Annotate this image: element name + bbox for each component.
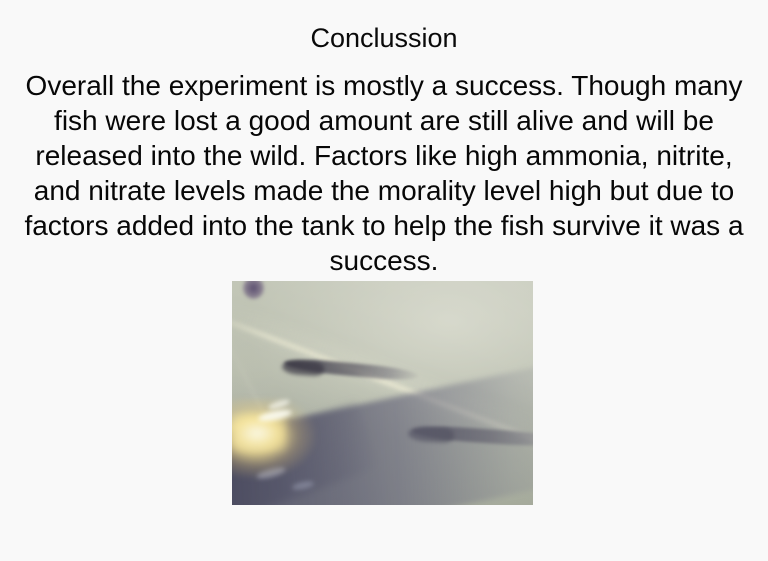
- slide: Conclussion Overall the experiment is mo…: [0, 0, 768, 561]
- page-title: Conclussion: [0, 22, 768, 54]
- fish-tank-photo: [232, 281, 533, 505]
- slide-body-text: Overall the experiment is mostly a succe…: [18, 68, 750, 278]
